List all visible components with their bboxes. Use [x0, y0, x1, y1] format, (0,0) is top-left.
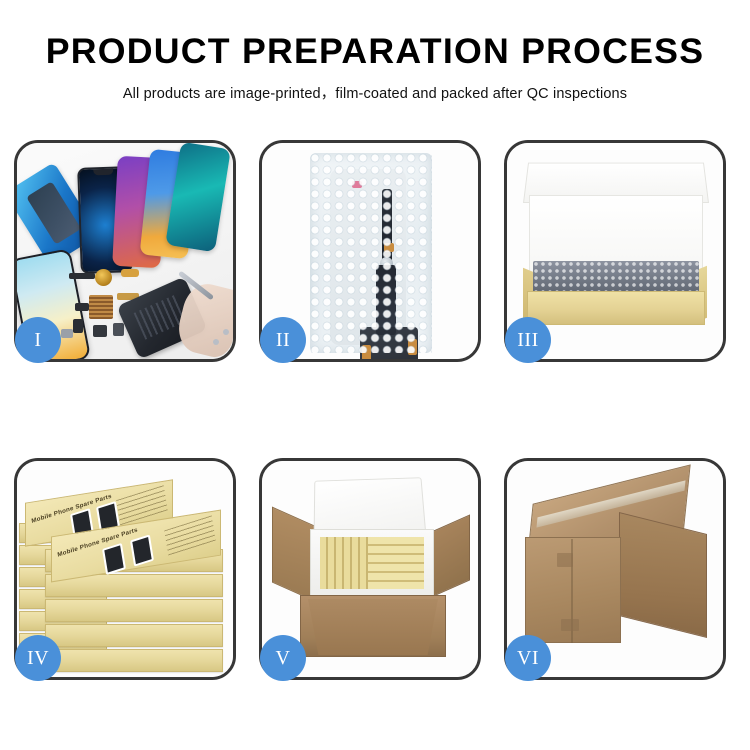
page-title: PRODUCT PREPARATION PROCESS — [0, 34, 750, 71]
speaker-icon — [93, 325, 107, 337]
panel-bubble-wrapped-screen: II — [259, 140, 481, 362]
screw-icon — [213, 339, 219, 345]
step-number-badge: VI — [505, 635, 551, 681]
process-steps-grid: I II — [14, 140, 736, 680]
box-layer — [45, 624, 223, 647]
infographic-page: PRODUCT PREPARATION PROCESS All products… — [0, 0, 750, 750]
carton-handle-tab-icon — [557, 553, 573, 567]
packed-boxes-icon — [320, 537, 424, 589]
panel-phone-parts: I — [14, 140, 236, 362]
panel-carton-with-foam-insert: V — [259, 458, 481, 680]
panel-open-kraft-box: III — [504, 140, 726, 362]
small-part-icon — [73, 319, 83, 333]
carton-front — [308, 599, 438, 655]
box-layer — [45, 599, 223, 622]
step-number-badge: III — [505, 317, 551, 363]
metal-bracket-icon — [61, 329, 73, 338]
bubble-bag — [310, 153, 432, 353]
box-spec-lines-icon — [164, 515, 215, 555]
panel-sealed-shipping-carton: VI — [504, 458, 726, 680]
carton-handle-tab-icon — [561, 619, 579, 631]
box-layer — [45, 649, 223, 672]
box-front-wall — [527, 291, 705, 325]
box-product-image-icon — [102, 543, 126, 575]
panel-stacked-retail-boxes: Mobile Phone Spare Parts Mobile Phone Sp… — [14, 458, 236, 680]
screw-icon — [223, 329, 229, 335]
bubble-texture-icon — [310, 153, 432, 353]
copper-coil-icon — [95, 269, 112, 286]
battery-connector-icon — [113, 323, 124, 336]
step-number-badge: II — [260, 317, 306, 363]
small-part-icon — [75, 303, 89, 311]
flex-cable-icon — [69, 273, 95, 279]
connector-gold-icon — [121, 269, 139, 277]
bubble-wrap-contents-icon — [533, 261, 699, 295]
box-product-image-icon — [130, 534, 154, 566]
chip-grid-icon — [89, 295, 113, 319]
carton-side-face — [619, 512, 707, 638]
step-number-badge: I — [15, 317, 61, 363]
step-number-badge: IV — [15, 635, 61, 681]
header: PRODUCT PREPARATION PROCESS All products… — [0, 0, 750, 103]
step-number-badge: V — [260, 635, 306, 681]
page-subtitle: All products are image-printed，film-coat… — [0, 82, 750, 103]
